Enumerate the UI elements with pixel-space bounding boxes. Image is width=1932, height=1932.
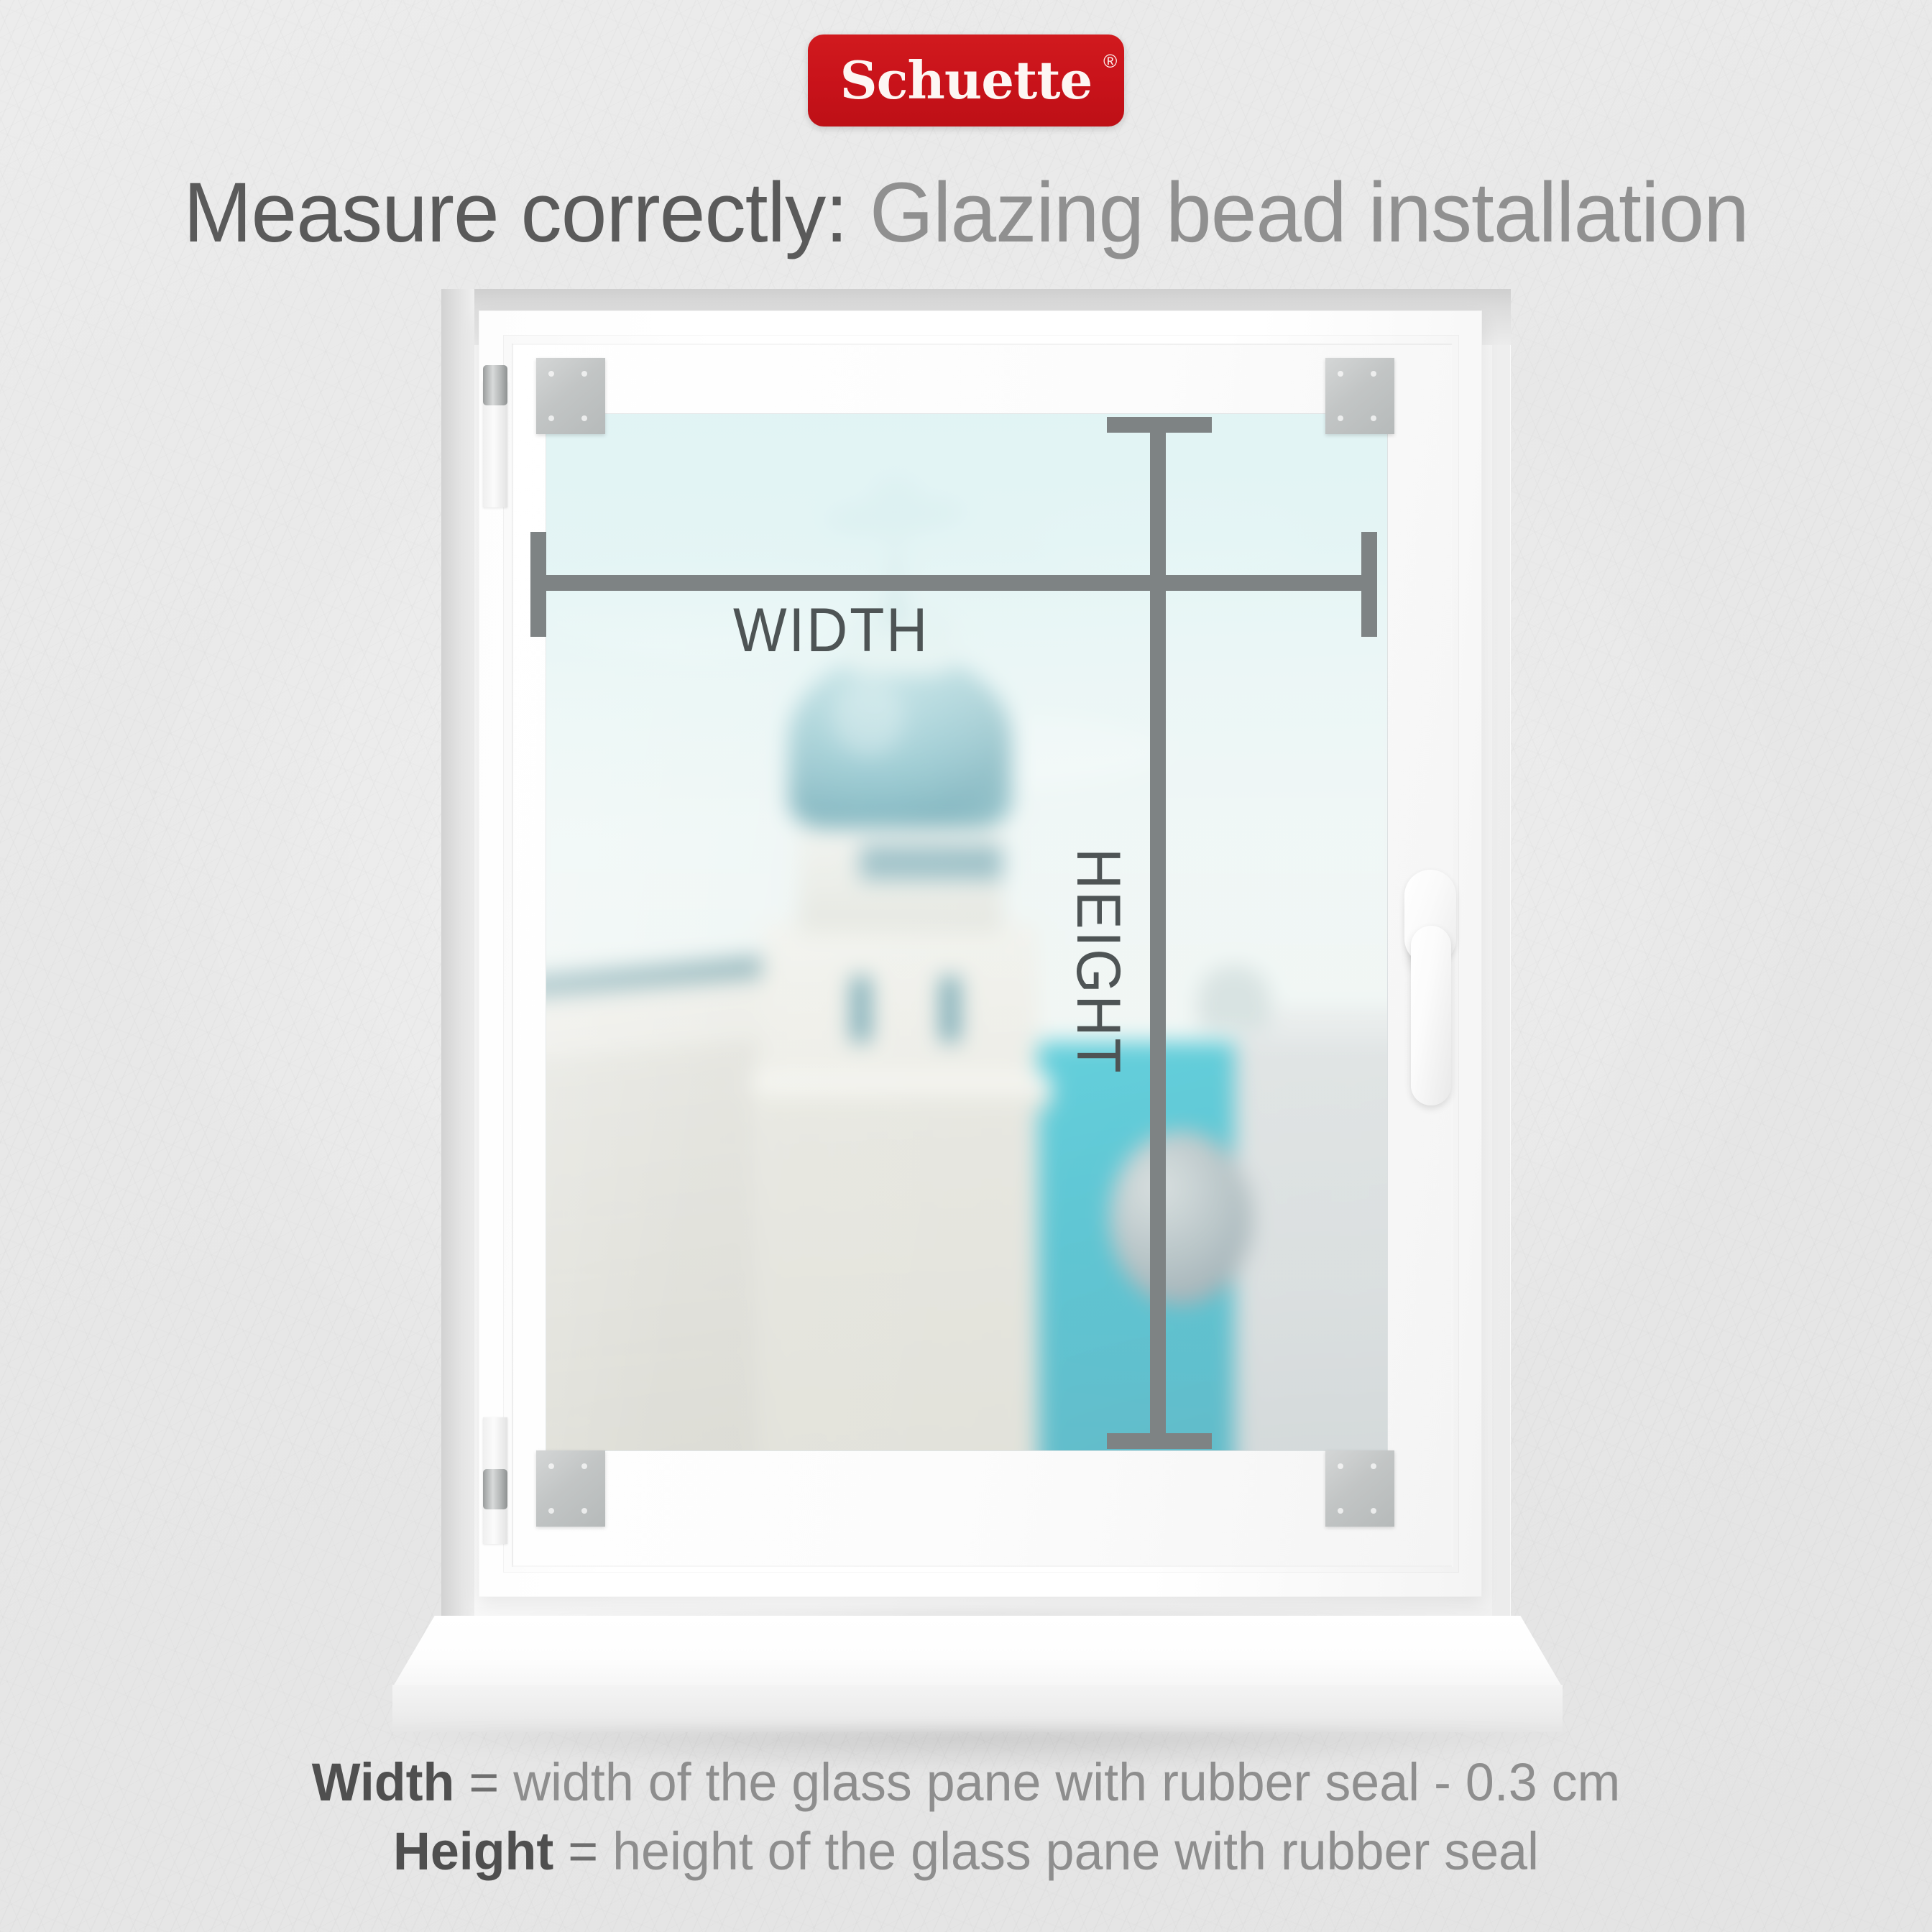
- height-measure-cap-bottom: [1107, 1433, 1212, 1449]
- glass-pane: [546, 414, 1387, 1450]
- glazing-bead-bracket-top-right: [1325, 358, 1394, 434]
- legend-text-height: height of the glass pane with rubber sea…: [612, 1821, 1539, 1881]
- legend-equals-width: =: [454, 1752, 513, 1812]
- legend-row-height: Height = height of the glass pane with r…: [29, 1817, 1903, 1886]
- legend-text-width: width of the glass pane with rubber seal…: [513, 1752, 1620, 1812]
- measurement-legend: Width = width of the glass pane with rub…: [0, 1748, 1932, 1886]
- glazing-bead-bracket-bottom-left: [536, 1450, 605, 1527]
- legend-label-width: Width: [312, 1752, 455, 1812]
- height-measure-label: HEIGHT: [1062, 848, 1133, 1075]
- legend-label-height: Height: [393, 1821, 553, 1881]
- glazing-bead-bracket-top-left: [536, 358, 605, 434]
- hinge-knuckle-top: [483, 365, 507, 405]
- window-sill-top: [392, 1616, 1563, 1688]
- height-measure-line: [1150, 417, 1166, 1449]
- width-measure-line: [530, 575, 1377, 591]
- width-measure-cap-left: [530, 532, 546, 637]
- legend-row-width: Width = width of the glass pane with rub…: [29, 1748, 1903, 1817]
- glazing-bead-bracket-bottom-right: [1325, 1450, 1394, 1527]
- window-illustration: WIDTH HEIGHT: [0, 0, 1932, 1932]
- wall-opening-left-jamb: [441, 289, 474, 1626]
- glass-reflection: [546, 414, 1387, 1450]
- hinge-knuckle-bottom: [483, 1469, 507, 1509]
- infographic-canvas: Schuette® Measure correctly: Glazing bea…: [0, 0, 1932, 1932]
- window-sill-front: [392, 1685, 1563, 1732]
- width-measure-label: WIDTH: [733, 595, 929, 666]
- height-measure-cap-top: [1107, 417, 1212, 433]
- legend-equals-height: =: [553, 1821, 612, 1881]
- width-measure-cap-right: [1361, 532, 1377, 637]
- window-handle-lever[interactable]: [1411, 926, 1451, 1105]
